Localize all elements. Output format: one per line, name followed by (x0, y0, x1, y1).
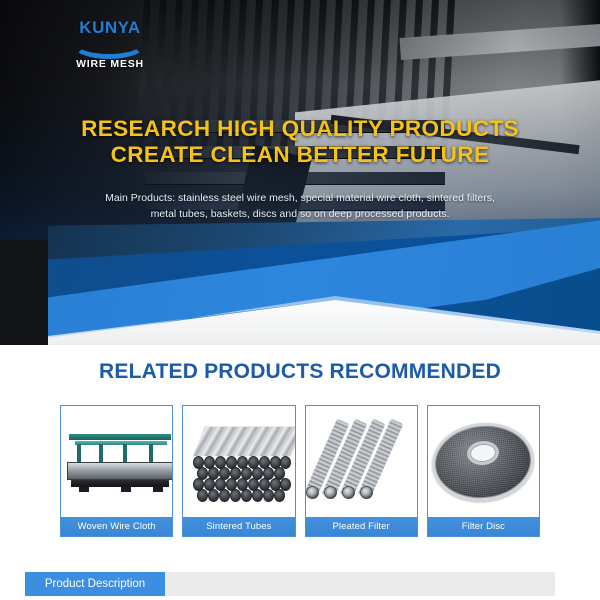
tab-product-description[interactable]: Product Description (25, 572, 165, 596)
logo-swoosh-icon (72, 29, 146, 59)
product-card-label: Filter Disc (428, 517, 539, 536)
product-image-filter-disc (428, 406, 539, 517)
tubes-illustration (193, 426, 291, 498)
product-card[interactable]: Pleated Filter (305, 405, 418, 537)
company-logo: KUNYA WIRE MESH (62, 18, 158, 70)
hero-banner: KUNYA WIRE MESH RESEARCH HIGH QUALITY PR… (0, 0, 600, 345)
product-card[interactable]: Woven Wire Cloth (60, 405, 173, 537)
product-card-label: Pleated Filter (306, 517, 417, 536)
hero-subtitle: Main Products: stainless steel wire mesh… (95, 190, 505, 222)
product-card-label: Woven Wire Cloth (61, 517, 172, 536)
headline-line-1: RESEARCH HIGH QUALITY PRODUCTS (81, 116, 519, 141)
product-card-label: Sintered Tubes (183, 517, 294, 536)
product-page: KUNYA WIRE MESH RESEARCH HIGH QUALITY PR… (0, 0, 600, 600)
section-title-related-products: RELATED PRODUCTS RECOMMENDED (0, 360, 600, 384)
related-products-list: Woven Wire Cloth (60, 405, 540, 537)
product-image-pleated-filter (306, 406, 417, 517)
pleated-filter-illustration (314, 422, 414, 502)
product-card[interactable]: Filter Disc (427, 405, 540, 537)
logo-tagline: WIRE MESH (62, 58, 158, 70)
hero-headline: RESEARCH HIGH QUALITY PRODUCTS CREATE CL… (0, 116, 600, 168)
product-card[interactable]: Sintered Tubes (182, 405, 295, 537)
product-image-sintered-tubes (183, 406, 294, 517)
logo-mark: KUNYA (62, 18, 158, 52)
product-image-woven-wire-cloth (61, 406, 172, 517)
loom-illustration (65, 434, 172, 492)
headline-line-2: CREATE CLEAN BETTER FUTURE (0, 142, 600, 168)
